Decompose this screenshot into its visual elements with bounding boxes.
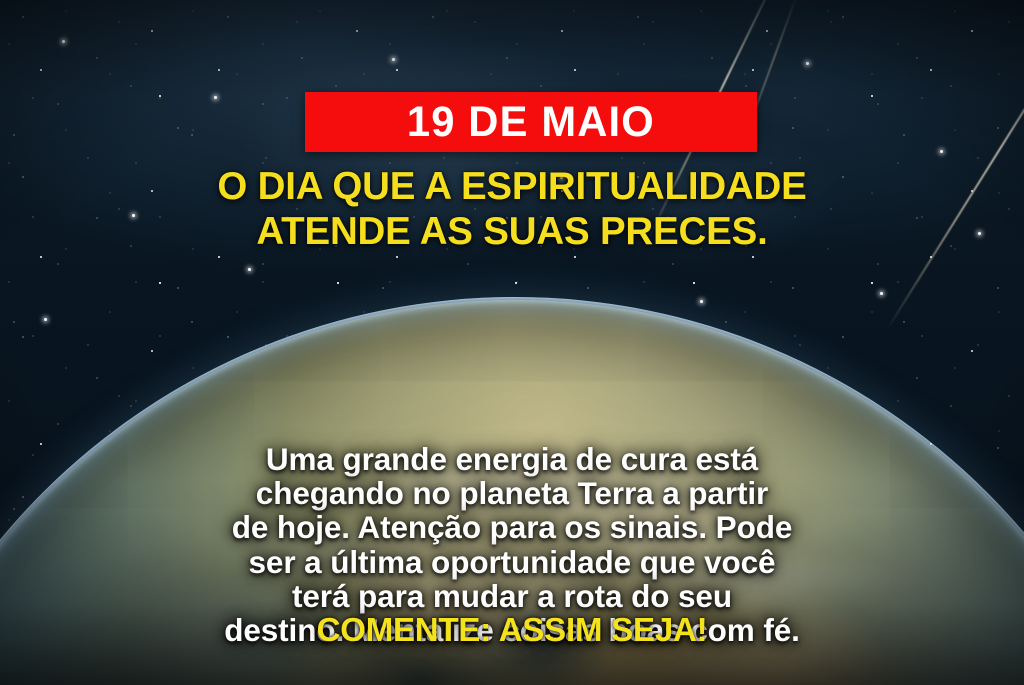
body-copy-line: Uma grande energia de cura está <box>52 442 972 476</box>
call-to-action-text: COMENTE: ASSIM SEJA! <box>52 613 972 646</box>
headline-line-1: O DIA QUE A ESPIRITUALIDADE <box>217 165 806 208</box>
poster-content: 19 DE MAIO O DIA QUE A ESPIRITUALIDADE A… <box>0 0 1024 685</box>
date-banner-text: 19 DE MAIO <box>407 101 655 144</box>
body-copy-line: chegando no planeta Terra a partir <box>52 476 972 510</box>
date-banner: 19 DE MAIO <box>305 92 757 152</box>
body-copy-line: de hoje. Atenção para os sinais. Pode <box>52 510 972 544</box>
poster-canvas: 19 DE MAIO O DIA QUE A ESPIRITUALIDADE A… <box>0 0 1024 685</box>
body-copy-line: ser a última oportunidade que você <box>52 545 972 579</box>
body-copy-line: terá para mudar a rota do seu <box>52 579 972 613</box>
headline-line-2: ATENDE AS SUAS PRECES. <box>50 209 974 254</box>
headline: O DIA QUE A ESPIRITUALIDADE ATENDE AS SU… <box>50 164 974 255</box>
